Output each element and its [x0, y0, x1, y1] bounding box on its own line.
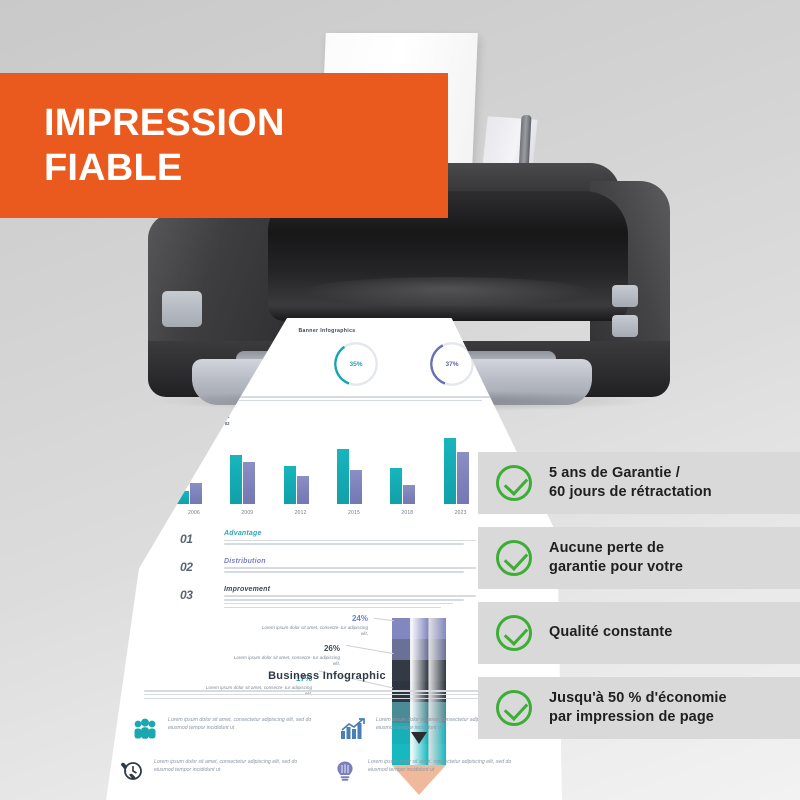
bar	[403, 485, 415, 504]
headline-banner: IMPRESSION FIABLE	[0, 73, 448, 218]
bar-category-label: 2012	[281, 510, 321, 516]
bar	[390, 468, 402, 504]
business-paragraph	[144, 690, 514, 701]
bar-category-label: 2023	[441, 510, 481, 516]
list-number: 03	[180, 588, 193, 602]
pencil-lead	[411, 732, 427, 744]
numbered-list-item: 02Distribution	[180, 558, 510, 573]
bar	[337, 449, 349, 504]
pencil-segment	[392, 639, 446, 660]
bar-category-label: 2009	[227, 510, 267, 516]
feature-callout-label: 5 ans de Garantie /60 jours de rétractat…	[549, 464, 712, 502]
bar	[350, 470, 362, 504]
check-circle-icon	[496, 540, 532, 576]
clock-phone-icon	[118, 760, 144, 782]
pencil-segment	[392, 618, 446, 639]
pencil-stat-text: Lorem ipsum dolor sit amet, consecte- tu…	[260, 625, 368, 639]
bar-category-label: 2006	[174, 510, 214, 516]
printer-button-right-2[interactable]	[612, 315, 638, 337]
bar	[284, 466, 296, 504]
headline-line-2: FIABLE	[44, 146, 448, 191]
lightbulb-icon	[332, 760, 358, 782]
bar	[230, 455, 242, 504]
printer-button-left[interactable]	[162, 291, 202, 327]
feature-callout-label: Aucune perte degarantie pour votre	[549, 539, 683, 577]
donut-chart-1: 35%	[334, 342, 378, 386]
check-circle-icon	[496, 690, 532, 726]
pencil-stat-value: 26%	[232, 644, 340, 653]
bar	[297, 476, 309, 504]
headline-line-1: IMPRESSION	[44, 101, 448, 146]
pencil-stat-value: 24%	[260, 614, 368, 623]
pencil-leader-line	[346, 645, 393, 654]
bar-category-label: 2018	[387, 510, 427, 516]
feature-callout[interactable]: Qualité constante	[478, 602, 800, 664]
list-heading: Improvement	[224, 586, 510, 593]
list-number: 02	[180, 560, 193, 574]
bar	[243, 462, 255, 504]
growth-chart-icon	[340, 718, 366, 740]
pencil-stat: 26%Lorem ipsum dolor sit amet, consecte-…	[232, 644, 340, 668]
legend-label: Step 01	[214, 414, 230, 419]
numbered-list-item: 03Improvement	[180, 586, 510, 608]
legend-item: Step 01	[200, 414, 230, 419]
icon-feature-text: Lorem ipsum dolor sit amet, consectetur …	[168, 716, 318, 733]
list-heading: Advantage	[224, 530, 510, 537]
list-heading: Distribution	[224, 558, 510, 565]
printer-button-right-1[interactable]	[612, 285, 638, 307]
pencil-stat: 24%Lorem ipsum dolor sit amet, consecte-…	[260, 614, 368, 638]
feature-callout-label: Qualité constante	[549, 623, 672, 642]
check-circle-icon	[496, 615, 532, 651]
feature-callout-label: Jusqu'à 50 % d'économiepar impression de…	[549, 689, 727, 727]
bar	[444, 438, 456, 504]
feature-callout-list: 5 ans de Garantie /60 jours de rétractat…	[478, 452, 800, 752]
bar	[177, 491, 189, 504]
people-icon	[132, 718, 158, 740]
feature-callout[interactable]: Jusqu'à 50 % d'économiepar impression de…	[478, 677, 800, 739]
feature-callout[interactable]: Aucune perte degarantie pour votre	[478, 527, 800, 589]
numbered-list-item: 01Advantage	[180, 530, 510, 545]
numbered-list: 01Advantage02Distribution03Improvement	[180, 530, 510, 621]
list-number: 01	[180, 532, 193, 546]
bar-category-label: 2015	[334, 510, 374, 516]
donut-value-1: 35%	[334, 342, 378, 386]
bar	[457, 452, 469, 504]
check-circle-icon	[496, 465, 532, 501]
product-scene: Banner Infographics 35% 37% Step 01Step …	[0, 0, 800, 800]
legend-swatch	[200, 415, 211, 418]
bar-chart: 200620092012201520182023	[170, 426, 490, 516]
icon-feature-text: Lorem ipsum dolor sit amet, consectetur …	[154, 758, 304, 775]
bar	[190, 483, 202, 504]
feature-callout[interactable]: 5 ans de Garantie /60 jours de rétractat…	[478, 452, 800, 514]
icon-feature-text: Lorem ipsum dolor sit amet, consectetur …	[368, 758, 518, 775]
legend-swatch	[200, 422, 211, 425]
pencil-stat-text: Lorem ipsum dolor sit amet, consecte- tu…	[232, 655, 340, 669]
